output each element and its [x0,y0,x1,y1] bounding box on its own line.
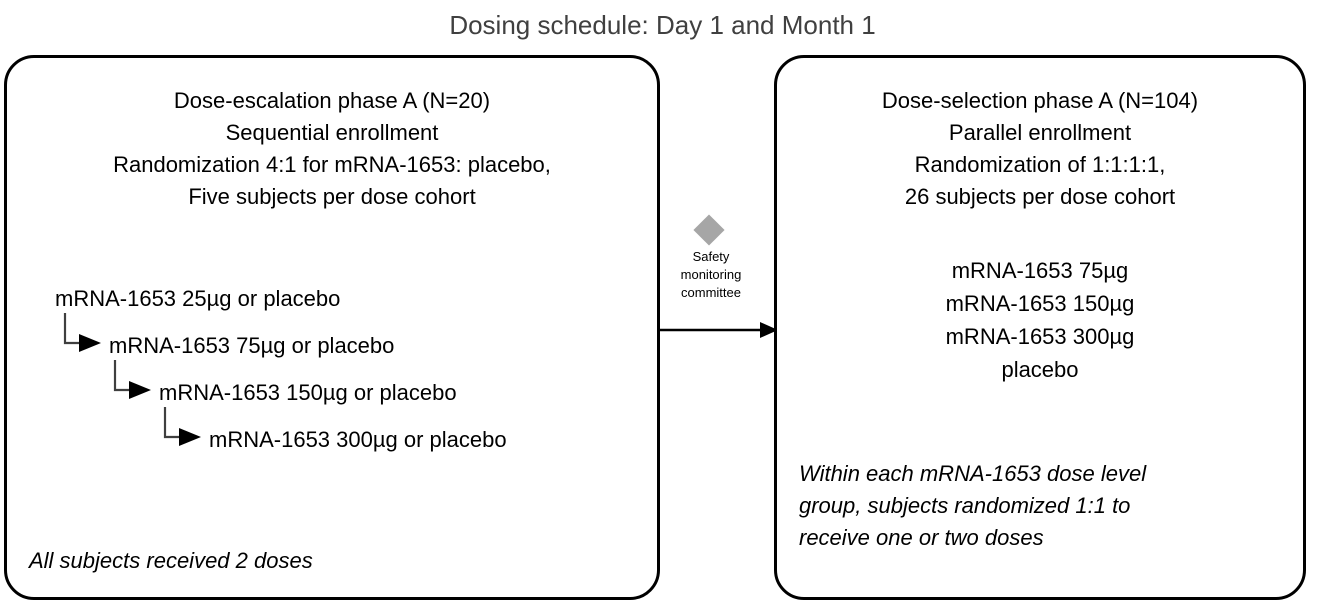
dose-escalation-header-line-3: Randomization 4:1 for mRNA-1653: placebo… [7,149,657,181]
dose-escalation-header-line-4: Five subjects per dose cohort [7,181,657,213]
ladder-step-2-label: mRNA-1653 75µg or placebo [109,331,394,361]
escalation-dosing-note: All subjects received 2 doses [29,545,629,577]
smc-label-line-2: monitoring [658,266,764,284]
selection-note-line-3: receive one or two doses [799,522,1279,554]
ladder-step-3: mRNA-1653 150µg or placebo [51,378,651,425]
dose-group-3: mRNA-1653 300µg [777,320,1303,353]
dose-escalation-header: Dose-escalation phase A (N=20) Sequentia… [7,85,657,213]
ladder-step-4: mRNA-1653 300µg or placebo [51,425,651,472]
safety-monitoring-connector: Safety monitoring committee [658,215,778,345]
dose-selection-header-line-2: Parallel enrollment [777,117,1303,149]
ladder-step-1: mRNA-1653 25µg or placebo [51,284,651,331]
ladder-step-1-label: mRNA-1653 25µg or placebo [55,284,340,314]
ladder-step-3-label: mRNA-1653 150µg or placebo [159,378,457,408]
dose-selection-header-line-4: 26 subjects per dose cohort [777,181,1303,213]
dose-selection-header: Dose-selection phase A (N=104) Parallel … [777,85,1303,213]
dose-escalation-ladder: mRNA-1653 25µg or placebo mRNA-1653 75µg… [51,284,651,472]
smc-label-line-1: Safety [658,248,764,266]
dose-group-4: placebo [777,353,1303,386]
selection-note-line-1: Within each mRNA-1653 dose level [799,458,1279,490]
dose-escalation-header-line-2: Sequential enrollment [7,117,657,149]
page-title: Dosing schedule: Day 1 and Month 1 [0,9,1325,41]
selection-note-line-2: group, subjects randomized 1:1 to [799,490,1279,522]
ladder-step-4-label: mRNA-1653 300µg or placebo [209,425,507,455]
selection-randomization-note: Within each mRNA-1653 dose level group, … [799,458,1279,554]
dose-selection-phase-box: Dose-selection phase A (N=104) Parallel … [774,55,1306,600]
safety-monitoring-committee-label: Safety monitoring committee [658,248,764,302]
elbow-arrow-icon [161,407,207,451]
dose-group-2: mRNA-1653 150µg [777,287,1303,320]
elbow-arrow-icon [111,360,157,404]
dose-escalation-phase-box: Dose-escalation phase A (N=20) Sequentia… [4,55,660,600]
flow-arrow-icon [658,319,778,341]
diagram-canvas: Dosing schedule: Day 1 and Month 1 Dose-… [0,0,1325,605]
dose-group-1: mRNA-1653 75µg [777,254,1303,287]
smc-label-line-3: committee [658,284,764,302]
dose-selection-group-list: mRNA-1653 75µg mRNA-1653 150µg mRNA-1653… [777,254,1303,386]
dose-selection-header-line-1: Dose-selection phase A (N=104) [777,85,1303,117]
diamond-icon [693,214,724,245]
dose-escalation-header-line-1: Dose-escalation phase A (N=20) [7,85,657,117]
dose-selection-header-line-3: Randomization of 1:1:1:1, [777,149,1303,181]
elbow-arrow-icon [61,313,107,357]
